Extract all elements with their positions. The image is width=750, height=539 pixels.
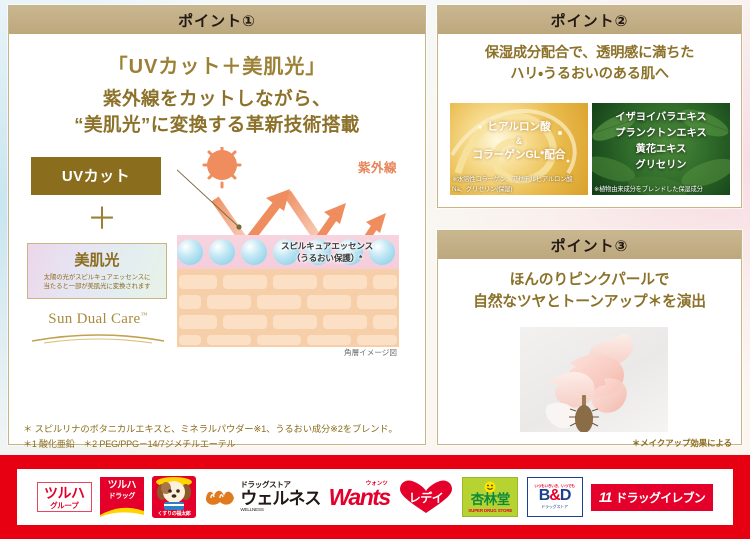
ingredient-a-caption: ※水溶性コラーゲン、アセチルヒアルロン酸Na、グリセリン(保湿) xyxy=(450,174,588,195)
panel-point-3-body: ほんのりピンクパールで 自然なツヤとトーンアップ＊を演出 xyxy=(438,269,741,454)
logo-bd-line-2: ドラッグストア xyxy=(541,505,568,509)
essence-bead xyxy=(209,239,235,265)
bikoh-note-line-1: 太陽の光がスピルキュアエッセンスに xyxy=(44,274,151,281)
ingredient-a-text: ヒアルロン酸 & コラーゲンGL*配合 xyxy=(450,103,588,163)
logo-tsuruha-drug-line-2: ドラッグ xyxy=(109,493,135,500)
logo-wants-ruby: ウォンツ xyxy=(366,479,388,487)
point-2-heading-line-2: ハリ・うるおいのある肌へ xyxy=(510,66,669,82)
ingredient-a-amp: & xyxy=(450,135,588,147)
logo-tsuruha-group-line-1: ツルハ xyxy=(44,486,85,500)
swoosh-underline-icon xyxy=(28,330,168,344)
logo-ledy: レデイ xyxy=(398,479,454,515)
sun-dual-care-text: Sun Dual Care xyxy=(48,311,140,327)
bikoh-badge: 美肌光 太陽の光がスピルキュアエッセンスに 当たると一部が美肌光に変換されます xyxy=(27,243,167,299)
panel-point-3: ポイント③ ほんのりピンクパールで 自然なツヤとトーンアップ＊を演出 xyxy=(437,230,742,445)
wellness-mark-icon xyxy=(204,486,236,508)
pink-pearl-cream-swatch xyxy=(520,327,668,432)
point-3-heading-line-2: 自然なツヤとトーンアップ＊を演出 xyxy=(473,294,706,310)
point-2-heading: 保湿成分配合で、透明感に満ちた ハリ・うるおいのある肌へ xyxy=(438,43,741,84)
panel-point-2-body: 保湿成分配合で、透明感に満ちた ハリ・うるおいのある肌へ ヒアルロン酸 & xyxy=(438,43,741,216)
point-1-subtitle-line-2: “美肌光”に変換する革新技術搭載 xyxy=(74,114,360,135)
point-2-heading-line-1: 保湿成分配合で、透明感に満ちた xyxy=(485,45,694,61)
ingredient-b-line-1: イザヨイバラエキス xyxy=(615,112,706,123)
point-1-footnote-line-1: ＊ スピルリナのボタニカルエキスと、ミネラルパウダー※1、うるおい成分※2をブレ… xyxy=(23,422,415,437)
logo-bd-brand-d: D xyxy=(560,487,571,504)
ingredient-card-botanical-extracts: イザヨイバラエキス プランクトンエキス 黄花エキス グリセリン ※植物由来成分を… xyxy=(592,103,730,195)
bikoh-note-line-2: 当たると一部が美肌光に変換されます xyxy=(44,283,151,290)
skin-layers: スピルキュアエッセンス （うるおい保護）* xyxy=(177,235,399,347)
logo-kyorindo: 杏林堂 SUPER DRUG STORE xyxy=(462,477,518,517)
essence-label-line-1: スピルキュアエッセンス xyxy=(281,241,373,251)
bikoh-note: 太陽の光がスピルキュアエッセンスに 当たると一部が美肌光に変換されます xyxy=(28,273,166,293)
panel-point-2-header: ポイント② xyxy=(438,6,741,34)
logo-bd-brand-b: B xyxy=(539,487,550,504)
logo-kusuri-no-fukutaro: くすりの福太郎 xyxy=(152,476,196,518)
logo-tsuruha-group: ツルハ グループ xyxy=(37,482,92,513)
logo-drug-eleven: 11 ドラッグイレブン xyxy=(591,484,713,511)
logo-tsuruha-drug: ツルハ ドラッグ xyxy=(100,477,144,517)
diagram-caption: 角層イメージ図 xyxy=(344,347,397,358)
logo-wellness-line-2: ウェルネス xyxy=(240,490,320,507)
logo-eleven-number: 11 xyxy=(599,489,612,505)
point-3-heading: ほんのりピンクパールで 自然なツヤとトーンアップ＊を演出 xyxy=(438,269,741,313)
logo-wellness-line-3: WELLNESS xyxy=(240,508,320,513)
point-1-footnote-line-2: ＊1 酸化亜鉛 ＊2 PEG/PPG－14/7ジメチルエーテル xyxy=(23,437,415,452)
ingredient-b-line-2: プランクトンエキス xyxy=(615,128,706,139)
logo-wellness-line-1: ドラッグストア xyxy=(240,481,320,489)
bikoh-label: 美肌光 xyxy=(28,249,166,270)
ingredient-b-line-3: 黄花エキス xyxy=(636,144,687,155)
trademark-symbol: ™ xyxy=(141,311,148,319)
point-1-subtitle: 紫外線をカットしながら、 “美肌光”に変換する革新技術搭載 xyxy=(9,86,425,139)
logo-tsuruha-drug-line-1: ツルハ xyxy=(108,481,136,491)
ingredient-images: ヒアルロン酸 & コラーゲンGL*配合 ※水溶性コラーゲン、アセチルヒアルロン酸… xyxy=(450,103,730,195)
cream-swirl-icon xyxy=(520,327,668,432)
logo-fukutaro-caption: くすりの福太郎 xyxy=(152,510,196,517)
panel-point-1-header: ポイント① xyxy=(9,6,425,34)
logo-eleven-text: ドラッグイレブン xyxy=(615,489,705,506)
panel-point-1-body: 「UVカット＋美肌光」 紫外線をカットしながら、 “美肌光”に変換する革新技術搭… xyxy=(9,50,425,460)
logo-bd-brand-amp: & xyxy=(549,487,560,504)
logo-wants: Wants ウォンツ xyxy=(329,484,390,511)
dog-mascot-icon xyxy=(152,476,196,510)
ingredient-a-line-1: ヒアルロン酸 xyxy=(487,121,550,133)
logo-drugstore-wellness: ドラッグストア ウェルネス WELLNESS xyxy=(204,481,320,512)
logo-kyorindo-line-2: SUPER DRUG STORE xyxy=(468,509,512,513)
essence-bead xyxy=(177,239,203,265)
essence-label-line-2: （うるおい保護）* xyxy=(292,253,362,263)
point-3-footnote: ＊メイクアップ効果による xyxy=(632,437,732,449)
essence-label: スピルキュアエッセンス （うるおい保護）* xyxy=(261,240,393,266)
ingredient-b-line-4: グリセリン xyxy=(636,160,687,171)
ingredient-card-hyaluronic-collagen: ヒアルロン酸 & コラーゲンGL*配合 ※水溶性コラーゲン、アセチルヒアルロン酸… xyxy=(450,103,588,195)
point-3-heading-line-1: ほんのりピンクパールで xyxy=(510,272,670,288)
retailer-logo-banner: ツルハ グループ ツルハ ドラッグ xyxy=(0,455,750,539)
panel-point-2: ポイント② 保湿成分配合で、透明感に満ちた ハリ・うるおいのある肌へ ヒア xyxy=(437,5,742,208)
logo-wants-text: Wants xyxy=(329,484,390,511)
logo-kyorindo-line-1: 杏林堂 xyxy=(471,493,510,507)
ingredient-b-caption: ※植物由来成分をブレンドした保湿成分 xyxy=(592,184,730,195)
stratum-corneum-layer xyxy=(177,269,399,347)
ingredient-a-line-2: コラーゲンGL*配合 xyxy=(473,149,566,161)
logo-b-and-d: いつもいきいき、いつでも B&D ドラッグストア xyxy=(527,477,583,517)
skin-cross-section-illustration: 紫外線 xyxy=(177,151,399,356)
infographic-root: ポイント① 「UVカット＋美肌光」 紫外線をカットしながら、 “美肌光”に変換す… xyxy=(0,0,750,539)
point-1-title: 「UVカット＋美肌光」 xyxy=(9,50,425,79)
uv-conversion-diagram: UVカット ＋ 美肌光 太陽の光がスピルキュアエッセンスに 当たると一部が美肌光… xyxy=(9,151,425,356)
plus-sign: ＋ xyxy=(87,205,117,235)
logo-tsuruha-group-line-2: グループ xyxy=(44,502,85,510)
panel-point-3-header: ポイント③ xyxy=(438,231,741,259)
yellow-swoosh-icon xyxy=(100,501,144,517)
point-1-footnote: ＊ スピルリナのボタニカルエキスと、ミネラルパウダー※1、うるおい成分※2をブレ… xyxy=(23,422,415,452)
sun-dual-care-mark: Sun Dual Care™ xyxy=(25,311,171,349)
logo-strip: ツルハ グループ ツルハ ドラッグ xyxy=(17,469,733,525)
ingredient-b-text: イザヨイバラエキス プランクトンエキス 黄花エキス グリセリン xyxy=(592,103,730,174)
point-1-subtitle-line-1: 紫外線をカットしながら、 xyxy=(103,88,331,109)
logo-ledy-text: レデイ xyxy=(409,489,444,506)
uv-cut-badge: UVカット xyxy=(31,157,161,195)
panel-point-1: ポイント① 「UVカット＋美肌光」 紫外線をカットしながら、 “美肌光”に変換す… xyxy=(8,5,426,445)
